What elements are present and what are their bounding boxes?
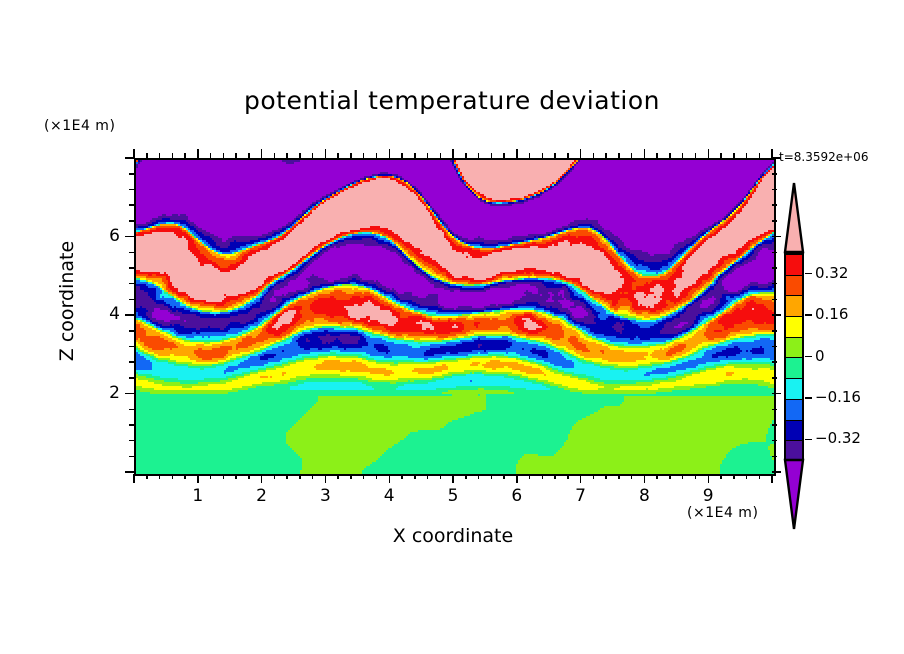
- y-tick-right: [772, 220, 777, 222]
- y-tick-right: [772, 204, 777, 206]
- x-tick-label: 3: [310, 486, 340, 506]
- y-tick-right: [772, 361, 777, 363]
- colorbar-bands: [784, 253, 804, 460]
- x-tick-minor: [759, 474, 761, 479]
- x-tick-top: [491, 153, 493, 158]
- x-tick-minor: [133, 474, 135, 483]
- colorbar: 0.320.160−0.16−0.32: [781, 181, 807, 531]
- x-tick-minor: [248, 474, 250, 479]
- x-tick-top: [516, 149, 518, 158]
- y-tick-right: [772, 157, 781, 159]
- y-tick-minor: [129, 299, 134, 301]
- x-tick-top: [172, 153, 174, 158]
- y-tick-right: [772, 299, 777, 301]
- y-axis-title: Z coordinate: [56, 206, 78, 396]
- x-tick-minor: [605, 474, 607, 479]
- x-tick-minor: [274, 474, 276, 479]
- x-tick-minor: [261, 474, 263, 483]
- y-tick-minor: [125, 393, 134, 395]
- colorbar-band: [786, 421, 802, 442]
- y-tick-minor: [129, 220, 134, 222]
- x-tick-top: [184, 153, 186, 158]
- colorbar-over-cap: [783, 181, 805, 254]
- colorbar-band: [786, 358, 802, 379]
- x-tick-minor: [708, 474, 710, 483]
- x-tick-top: [389, 149, 391, 158]
- y-tick-right: [772, 173, 777, 175]
- y-tick-minor: [125, 236, 134, 238]
- x-tick-minor: [567, 474, 569, 479]
- colorbar-tick-label: 0: [815, 347, 825, 365]
- x-tick-minor: [427, 474, 429, 479]
- x-tick-label: 8: [629, 486, 659, 506]
- colorbar-band: [786, 400, 802, 421]
- x-tick-top: [452, 149, 454, 158]
- page-title: potential temperature deviation: [0, 86, 904, 115]
- colorbar-tick: [805, 273, 812, 275]
- x-tick-minor: [440, 474, 442, 479]
- x-tick-top: [350, 153, 352, 158]
- x-tick-minor: [197, 474, 199, 483]
- x-tick-minor: [631, 474, 633, 479]
- x-tick-minor: [414, 474, 416, 479]
- x-tick-top: [363, 153, 365, 158]
- x-tick-top: [631, 153, 633, 158]
- y-tick-minor: [129, 377, 134, 379]
- x-tick-label: 1: [183, 486, 213, 506]
- y-tick-minor: [129, 267, 134, 269]
- x-tick-label: 9: [693, 486, 723, 506]
- x-tick-minor: [593, 474, 595, 479]
- colorbar-tick: [805, 439, 812, 441]
- y-tick-minor: [129, 456, 134, 458]
- y-tick-right: [772, 424, 777, 426]
- y-tick-minor: [129, 173, 134, 175]
- x-tick-top: [567, 153, 569, 158]
- x-tick-minor: [720, 474, 722, 479]
- x-tick-top: [542, 153, 544, 158]
- colorbar-band: [786, 338, 802, 359]
- x-tick-minor: [695, 474, 697, 479]
- x-tick-minor: [554, 474, 556, 479]
- x-tick-minor: [172, 474, 174, 479]
- y-tick-right: [772, 377, 777, 379]
- y-tick-minor: [129, 283, 134, 285]
- y-tick-right: [772, 440, 777, 442]
- x-tick-top: [580, 149, 582, 158]
- y-tick-minor: [129, 330, 134, 332]
- x-tick-top: [376, 153, 378, 158]
- x-tick-minor: [350, 474, 352, 479]
- x-tick-minor: [337, 474, 339, 479]
- colorbar-band: [786, 296, 802, 317]
- colorbar-band: [786, 379, 802, 400]
- y-tick-right: [772, 330, 777, 332]
- x-tick-top: [146, 153, 148, 158]
- y-tick-right: [772, 283, 777, 285]
- x-tick-top: [708, 149, 710, 158]
- x-tick-top: [401, 153, 403, 158]
- x-tick-minor: [363, 474, 365, 479]
- y-tick-right: [772, 456, 777, 458]
- y-tick-minor: [125, 471, 134, 473]
- x-tick-top: [440, 153, 442, 158]
- y-tick-right: [772, 393, 781, 395]
- x-tick-minor: [401, 474, 403, 479]
- y-tick-minor: [129, 409, 134, 411]
- contour-field: [136, 160, 774, 474]
- y-tick-right: [772, 252, 777, 254]
- x-tick-label: 7: [566, 486, 596, 506]
- colorbar-band: [786, 255, 802, 276]
- x-tick-top: [746, 153, 748, 158]
- x-tick-minor: [452, 474, 454, 483]
- colorbar-tick-label: −0.32: [815, 429, 861, 447]
- y-tick-right: [772, 236, 781, 238]
- x-tick-minor: [644, 474, 646, 483]
- colorbar-tick: [805, 397, 812, 399]
- colorbar-tick: [805, 356, 812, 358]
- x-tick-minor: [516, 474, 518, 483]
- x-tick-minor: [618, 474, 620, 479]
- y-tick-right: [772, 267, 777, 269]
- x-tick-minor: [580, 474, 582, 483]
- x-tick-top: [682, 153, 684, 158]
- x-tick-top: [223, 153, 225, 158]
- x-tick-minor: [184, 474, 186, 479]
- x-tick-top: [337, 153, 339, 158]
- x-tick-top: [593, 153, 595, 158]
- y-tick-label: 2: [90, 383, 120, 403]
- x-tick-top: [274, 153, 276, 158]
- x-tick-minor: [669, 474, 671, 479]
- x-tick-top: [312, 153, 314, 158]
- x-tick-label: 4: [374, 486, 404, 506]
- y-tick-minor: [129, 424, 134, 426]
- y-axis-unit-label: (×1E4 m): [44, 118, 115, 134]
- time-annotation: t=8.3592e+06: [779, 150, 868, 164]
- x-tick-minor: [733, 474, 735, 479]
- x-axis-title: X coordinate: [333, 525, 573, 547]
- x-axis-unit-label: (×1E4 m): [687, 505, 758, 521]
- x-tick-minor: [656, 474, 658, 479]
- x-tick-minor: [235, 474, 237, 479]
- x-tick-minor: [542, 474, 544, 479]
- x-tick-top: [299, 153, 301, 158]
- colorbar-band: [786, 276, 802, 297]
- y-tick-minor: [125, 157, 134, 159]
- x-tick-minor: [771, 474, 773, 483]
- x-tick-top: [733, 153, 735, 158]
- y-tick-right: [772, 409, 777, 411]
- y-tick-right: [772, 346, 777, 348]
- x-tick-minor: [312, 474, 314, 479]
- x-tick-minor: [299, 474, 301, 479]
- y-tick-right: [772, 189, 777, 191]
- x-tick-top: [644, 149, 646, 158]
- y-tick-minor: [129, 252, 134, 254]
- x-tick-minor: [146, 474, 148, 479]
- x-tick-top: [465, 153, 467, 158]
- x-tick-label: 6: [502, 486, 532, 506]
- x-tick-top: [759, 153, 761, 158]
- x-tick-top: [618, 153, 620, 158]
- x-tick-minor: [389, 474, 391, 483]
- y-tick-minor: [129, 189, 134, 191]
- x-tick-minor: [223, 474, 225, 479]
- x-tick-top: [325, 149, 327, 158]
- x-tick-minor: [210, 474, 212, 479]
- x-tick-minor: [746, 474, 748, 479]
- x-tick-top: [503, 153, 505, 158]
- x-tick-top: [235, 153, 237, 158]
- colorbar-tick-label: −0.16: [815, 388, 861, 406]
- y-tick-minor: [125, 314, 134, 316]
- x-tick-top: [286, 153, 288, 158]
- x-tick-minor: [286, 474, 288, 479]
- y-tick-label: 6: [90, 226, 120, 246]
- x-tick-top: [427, 153, 429, 158]
- y-tick-label: 4: [90, 304, 120, 324]
- x-tick-top: [414, 153, 416, 158]
- x-tick-minor: [465, 474, 467, 479]
- x-tick-top: [554, 153, 556, 158]
- x-tick-top: [720, 153, 722, 158]
- x-tick-minor: [529, 474, 531, 479]
- x-tick-minor: [491, 474, 493, 479]
- x-tick-minor: [325, 474, 327, 483]
- x-tick-minor: [376, 474, 378, 479]
- y-tick-right: [772, 471, 781, 473]
- x-tick-label: 2: [247, 486, 277, 506]
- x-tick-minor: [159, 474, 161, 479]
- x-tick-top: [210, 153, 212, 158]
- y-tick-minor: [129, 440, 134, 442]
- y-tick-minor: [129, 361, 134, 363]
- colorbar-under-cap: [783, 458, 805, 531]
- y-tick-minor: [129, 346, 134, 348]
- y-tick-minor: [129, 204, 134, 206]
- x-tick-minor: [682, 474, 684, 479]
- x-tick-top: [656, 153, 658, 158]
- x-tick-top: [159, 153, 161, 158]
- y-tick-right: [772, 314, 781, 316]
- x-tick-top: [669, 153, 671, 158]
- x-tick-top: [478, 153, 480, 158]
- x-tick-top: [605, 153, 607, 158]
- contour-plot-area: [134, 158, 776, 476]
- x-tick-minor: [503, 474, 505, 479]
- x-tick-top: [248, 153, 250, 158]
- x-tick-label: 5: [438, 486, 468, 506]
- x-tick-top: [529, 153, 531, 158]
- colorbar-band: [786, 317, 802, 338]
- x-tick-top: [695, 153, 697, 158]
- x-tick-top: [197, 149, 199, 158]
- colorbar-tick-label: 0.32: [815, 264, 848, 282]
- x-tick-minor: [478, 474, 480, 479]
- x-tick-top: [261, 149, 263, 158]
- colorbar-tick: [805, 314, 812, 316]
- colorbar-tick-label: 0.16: [815, 305, 848, 323]
